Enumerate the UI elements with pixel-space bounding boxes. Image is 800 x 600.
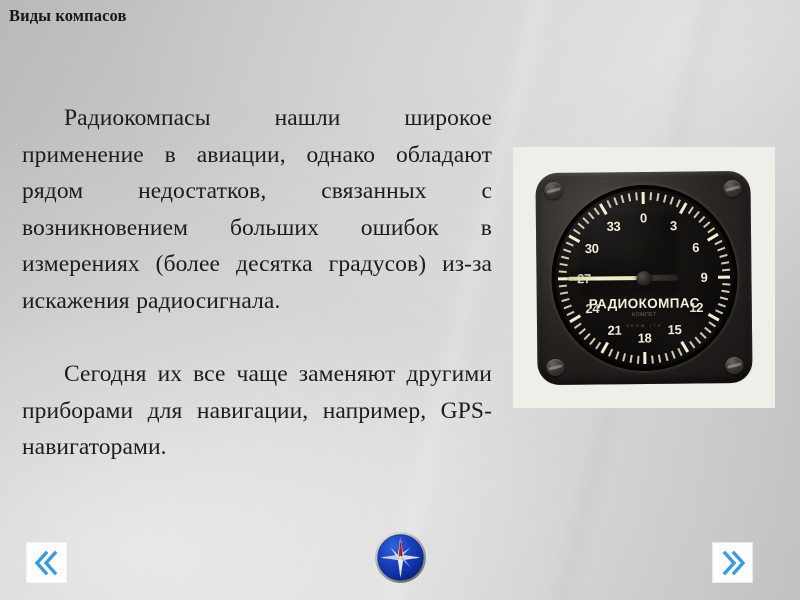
dial-tick	[600, 341, 609, 353]
dial-tick	[698, 215, 705, 222]
dial-tick	[717, 302, 725, 307]
dial-tick	[714, 239, 722, 244]
dial-tick	[573, 322, 581, 328]
dial-tick	[651, 355, 654, 363]
page-title: Виды компасов	[9, 6, 126, 26]
dial-tick	[622, 353, 626, 361]
svg-text:W: W	[383, 556, 387, 560]
dial-tick	[657, 354, 660, 362]
dial-tick	[675, 199, 680, 207]
dial-tick	[699, 331, 706, 338]
dial-number-3: 3	[670, 218, 677, 233]
dial-tick	[608, 348, 613, 356]
radiocompass-instrument: 03691215182124273033 РАДИОКОМПАС КОМПЕТ …	[535, 170, 752, 384]
dial-number-9: 9	[700, 269, 707, 284]
dial-tick	[689, 340, 695, 348]
dial-tick	[703, 221, 710, 228]
dial-tick	[643, 351, 646, 363]
dial-needle	[568, 276, 644, 281]
dial-tick	[558, 270, 566, 273]
dial-tick	[704, 326, 711, 333]
dial-tick	[578, 328, 585, 335]
instrument-dial: 03691215182124273033 РАДИОКОМПАС КОМПЕТ …	[554, 188, 734, 368]
dial-tick	[636, 355, 639, 363]
dial-tick	[719, 253, 727, 257]
dial-number-0: 0	[640, 210, 647, 225]
dial-tick	[707, 232, 719, 241]
dial-tick	[671, 350, 676, 358]
dial-tick	[569, 314, 581, 323]
next-slide-button[interactable]	[713, 543, 752, 582]
dial-tick	[606, 200, 611, 208]
dial-tick	[563, 248, 571, 253]
dial-tick	[694, 336, 701, 343]
dial-tick	[656, 192, 659, 200]
dial-tick	[642, 191, 645, 203]
body-paragraph-1: Радиокомпасы нашли широкое применение в …	[22, 100, 492, 319]
bezel-screw-top-left	[544, 181, 562, 198]
dial-tick	[718, 275, 730, 278]
compass-home-button[interactable]: N S E W	[374, 531, 427, 584]
radiocompass-photo: 03691215182124273033 РАДИОКОМПАС КОМПЕТ …	[513, 147, 775, 408]
bezel-screw-top-right	[723, 179, 741, 196]
dial-tick	[664, 352, 668, 360]
dial-tick	[613, 197, 618, 205]
dial-number-6: 6	[692, 239, 699, 254]
dial-tick	[687, 206, 693, 214]
dial-number-21: 21	[608, 322, 622, 337]
dial-tick	[707, 227, 715, 233]
bezel-screw-bottom-left	[546, 358, 564, 375]
dial-tick	[677, 347, 682, 355]
dial-number-33: 33	[606, 218, 620, 233]
dial-tick	[629, 354, 632, 362]
dial-tick	[717, 246, 725, 251]
dial-tick	[560, 255, 568, 259]
dial-tick	[693, 210, 700, 217]
dial-sub-label-2: 000м г/п	[626, 323, 662, 328]
previous-slide-button[interactable]	[27, 543, 66, 582]
dial-tick	[708, 313, 720, 322]
dial-number-30: 30	[585, 240, 599, 255]
svg-text:N: N	[399, 540, 402, 544]
dial-tick	[599, 203, 608, 215]
dial-tick	[662, 194, 666, 202]
dial-tick	[559, 262, 567, 265]
dial-tick	[559, 291, 567, 294]
dial-tick	[561, 298, 569, 302]
dial-tick	[558, 284, 566, 287]
dial-tick	[595, 341, 601, 349]
dial-tick	[722, 268, 730, 271]
bezel-screw-bottom-right	[725, 356, 743, 373]
dial-brand-label: РАДИОКОМПАС	[589, 295, 700, 311]
dial-tick	[708, 321, 716, 327]
dial-tick	[679, 202, 688, 214]
dial-sub-label-1: КОМПЕТ	[632, 311, 657, 317]
dial-number-18: 18	[638, 330, 652, 345]
slide-canvas: Виды компасов Радиокомпасы нашли широкое…	[0, 0, 800, 600]
dial-tick	[563, 304, 571, 309]
dial-tick	[635, 192, 638, 200]
dial-tick	[719, 296, 727, 300]
dial-tick	[620, 194, 624, 202]
slide-body-text: Радиокомпасы нашли широкое применение в …	[22, 100, 492, 466]
body-paragraph-2: Сегодня их все чаще заменяют другими при…	[22, 356, 492, 466]
dial-tick	[583, 333, 590, 340]
dial-tick	[589, 337, 596, 344]
dial-tick	[614, 351, 619, 359]
dial-tick	[715, 309, 723, 314]
dial-hub	[636, 270, 651, 285]
dial-tick	[722, 282, 730, 285]
dial-tick	[669, 196, 674, 204]
dial-tick	[721, 289, 729, 292]
compass-rose-icon: N S E W	[374, 531, 427, 584]
dial-tick	[627, 193, 630, 201]
dial-tick	[565, 241, 573, 246]
double-chevron-left-icon	[33, 550, 61, 576]
dial-tick	[720, 261, 728, 264]
dial-number-15: 15	[668, 322, 682, 337]
dial-tick	[566, 310, 574, 315]
dial-tick	[568, 234, 580, 243]
dial-tick	[680, 340, 689, 352]
double-chevron-right-icon	[719, 550, 747, 576]
dial-tick	[649, 192, 652, 200]
